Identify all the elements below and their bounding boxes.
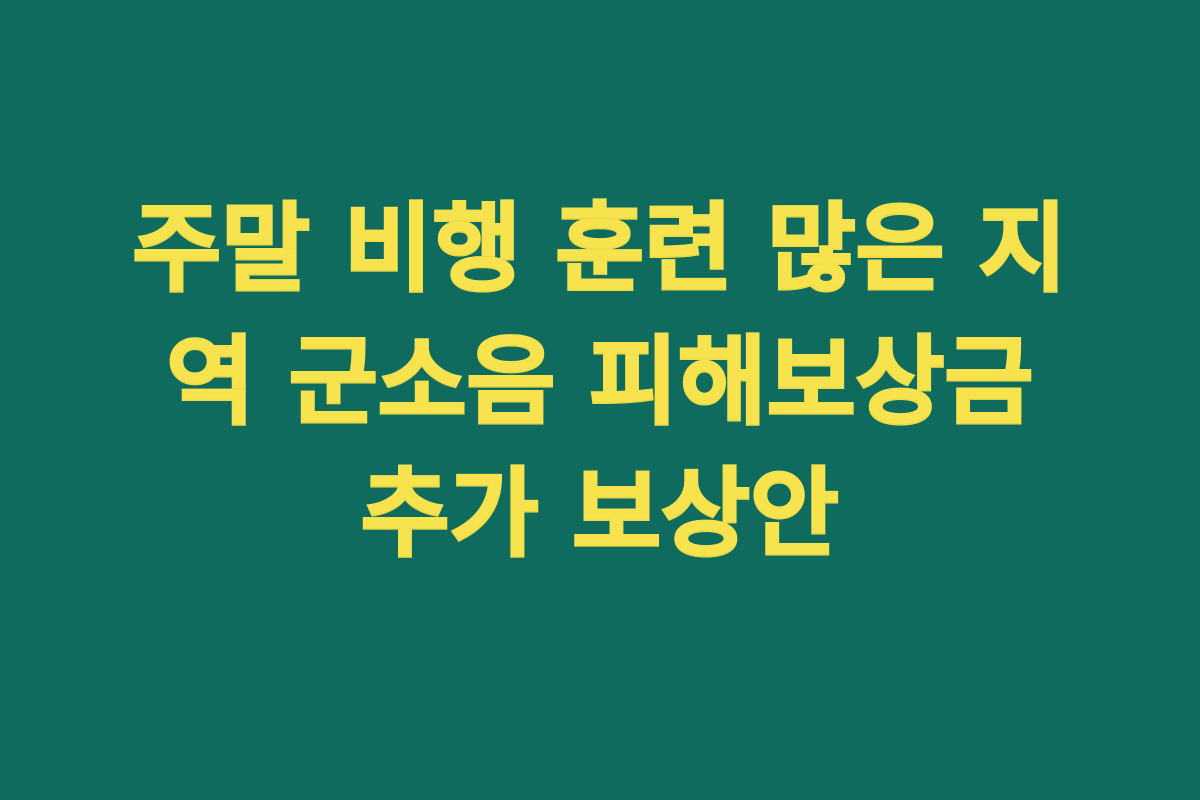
text-poster: 주말 비행 훈련 많은 지 역 군소음 피해보상금 추가 보상안 — [0, 0, 1200, 800]
headline-line-1: 주말 비행 훈련 많은 지 — [70, 183, 1130, 315]
headline-block: 주말 비행 훈련 많은 지 역 군소음 피해보상금 추가 보상안 — [70, 183, 1130, 580]
headline-line-2: 역 군소음 피해보상금 — [70, 316, 1130, 448]
headline-line-3: 추가 보상안 — [70, 448, 1130, 580]
